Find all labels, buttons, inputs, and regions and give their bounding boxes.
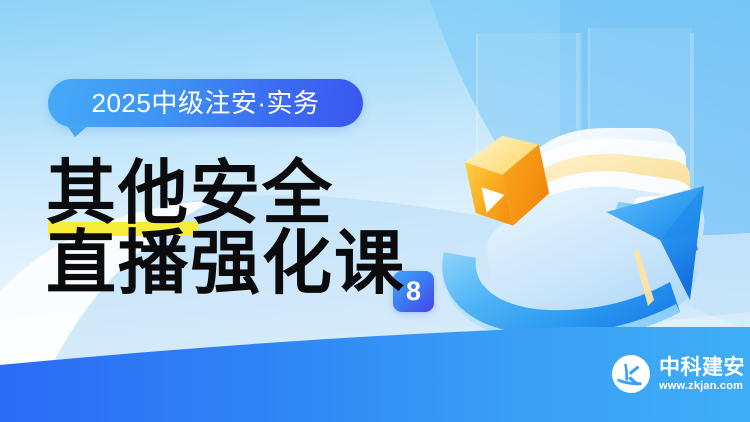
headline-block: 其他安全 直播强化课 [46, 152, 466, 300]
zkjan-circle-logo-icon [611, 354, 651, 394]
headline-line-1: 其他安全 [46, 156, 334, 230]
brand-logo: 中科建安 www.zkjan.com [611, 354, 745, 394]
headline-row-2: 直播强化课 [46, 224, 466, 300]
episode-number-label: 8 [406, 278, 421, 305]
headline-line-2: 直播强化课 [46, 226, 406, 300]
course-category-badge: 2025中级注安·实务 [48, 79, 363, 127]
course-category-label: 2025中级注安·实务 [92, 90, 320, 116]
brand-url: www.zkjan.com [659, 379, 745, 393]
badge-tail-pointer [66, 124, 90, 137]
course-banner: 2025中级注安·实务 其他安全 直播强化课 8 [0, 0, 750, 422]
brand-name: 中科建安 [659, 356, 745, 379]
headline-row-1: 其他安全 [46, 152, 466, 230]
brand-text-block: 中科建安 www.zkjan.com [659, 356, 745, 393]
